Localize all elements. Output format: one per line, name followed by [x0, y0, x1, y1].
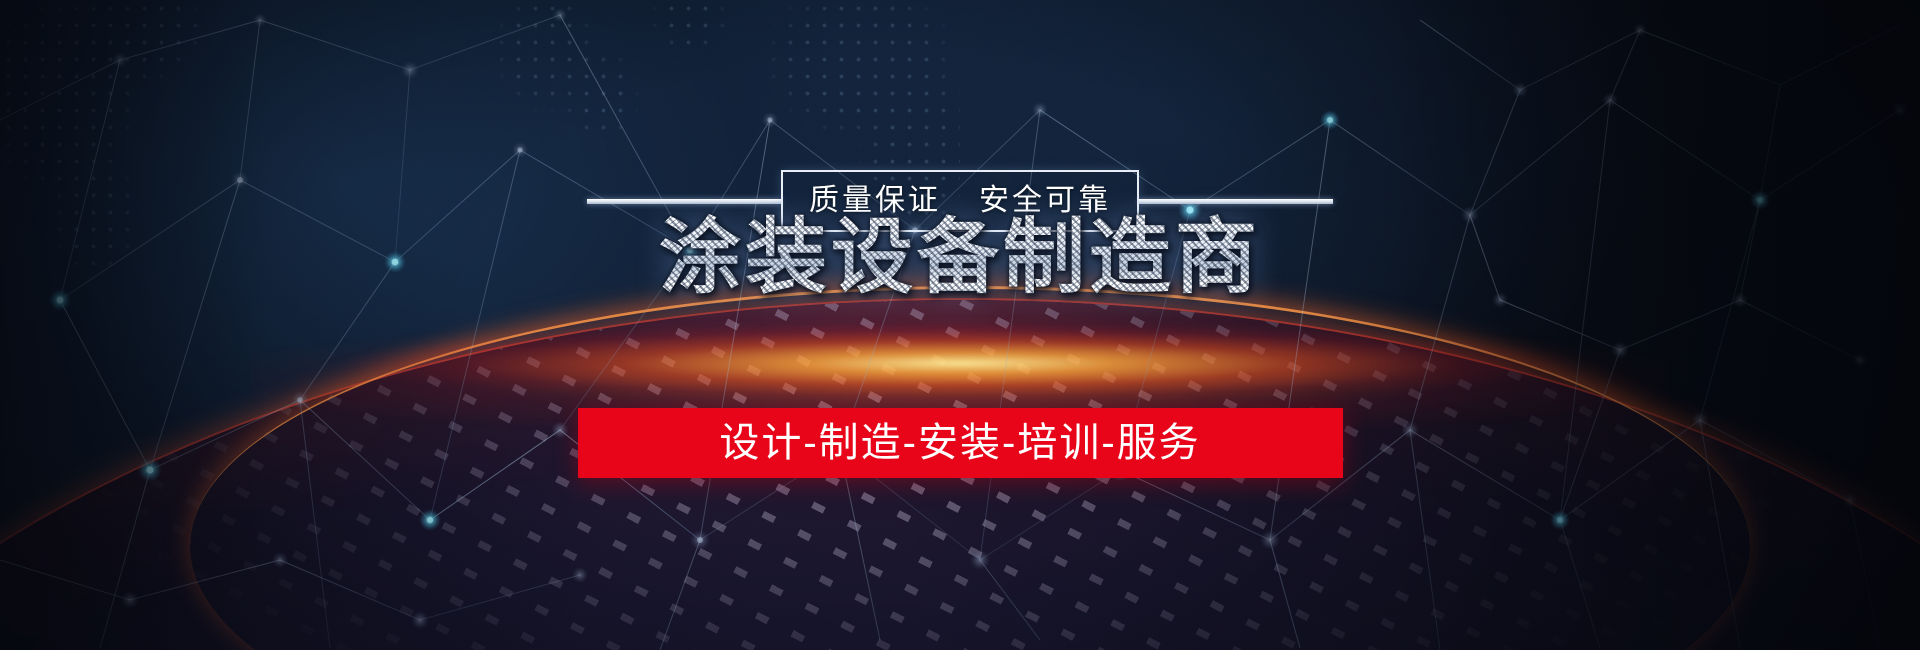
banner-content: 质量保证 安全可靠 涂装设备制造商 设计-制造-安装-培训-服务 — [0, 0, 1920, 650]
tagline-rule-right — [1139, 199, 1333, 204]
headline-title: 涂装设备制造商 — [0, 212, 1920, 304]
hero-banner: 质量保证 安全可靠 涂装设备制造商 设计-制造-安装-培训-服务 — [0, 0, 1920, 650]
service-chain-text: 设计-制造-安装-培训-服务 — [719, 423, 1200, 463]
subbar-row: 设计-制造-安装-培训-服务 — [0, 408, 1920, 478]
tagline-rule-left — [587, 199, 781, 204]
service-chain-banner: 设计-制造-安装-培训-服务 — [578, 408, 1343, 478]
